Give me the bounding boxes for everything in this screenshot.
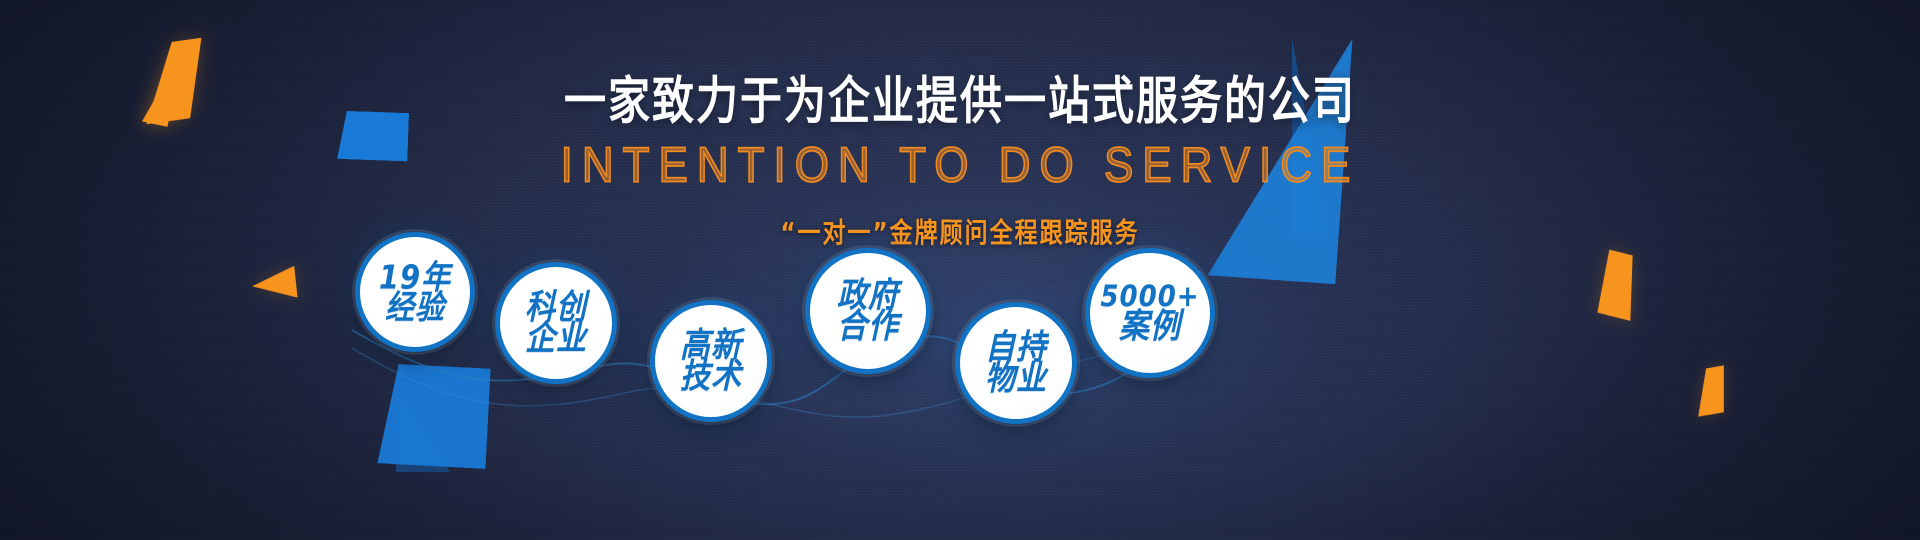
bubble-line-2: 物业 <box>985 361 1047 397</box>
bubble-line-2: 案例 <box>1119 309 1181 345</box>
feature-bubble-cases[interactable]: 5000+ 案例 <box>1085 248 1215 378</box>
subtitle-english: INTENTION TO DO SERVICE <box>0 138 1920 194</box>
feature-bubble-self-owned-property[interactable]: 自持 物业 <box>955 302 1077 424</box>
bubble-line-2: 技术 <box>680 359 742 395</box>
feature-bubble-high-tech[interactable]: 高新 技术 <box>650 300 772 422</box>
bubble-line-2: 合作 <box>837 309 899 345</box>
promo-banner: 一家致力于为企业提供一站式服务的公司 INTENTION TO DO SERVI… <box>0 0 1920 540</box>
subtitle-chinese: “一对一”金牌顾问全程跟踪服务 <box>0 210 1920 250</box>
page-title: 一家致力于为企业提供一站式服务的公司 <box>0 72 1920 129</box>
feature-bubble-tech-innovation-enterprise[interactable]: 科创 企业 <box>495 262 617 384</box>
bubble-line-2: 经验 <box>385 290 445 324</box>
bubble-line-2: 企业 <box>525 321 587 357</box>
banner-text-block: 一家致力于为企业提供一站式服务的公司 INTENTION TO DO SERVI… <box>0 72 1920 247</box>
feature-bubble-experience[interactable]: 19年 经验 <box>355 232 475 352</box>
feature-bubble-government-cooperation[interactable]: 政府 合作 <box>805 248 931 374</box>
